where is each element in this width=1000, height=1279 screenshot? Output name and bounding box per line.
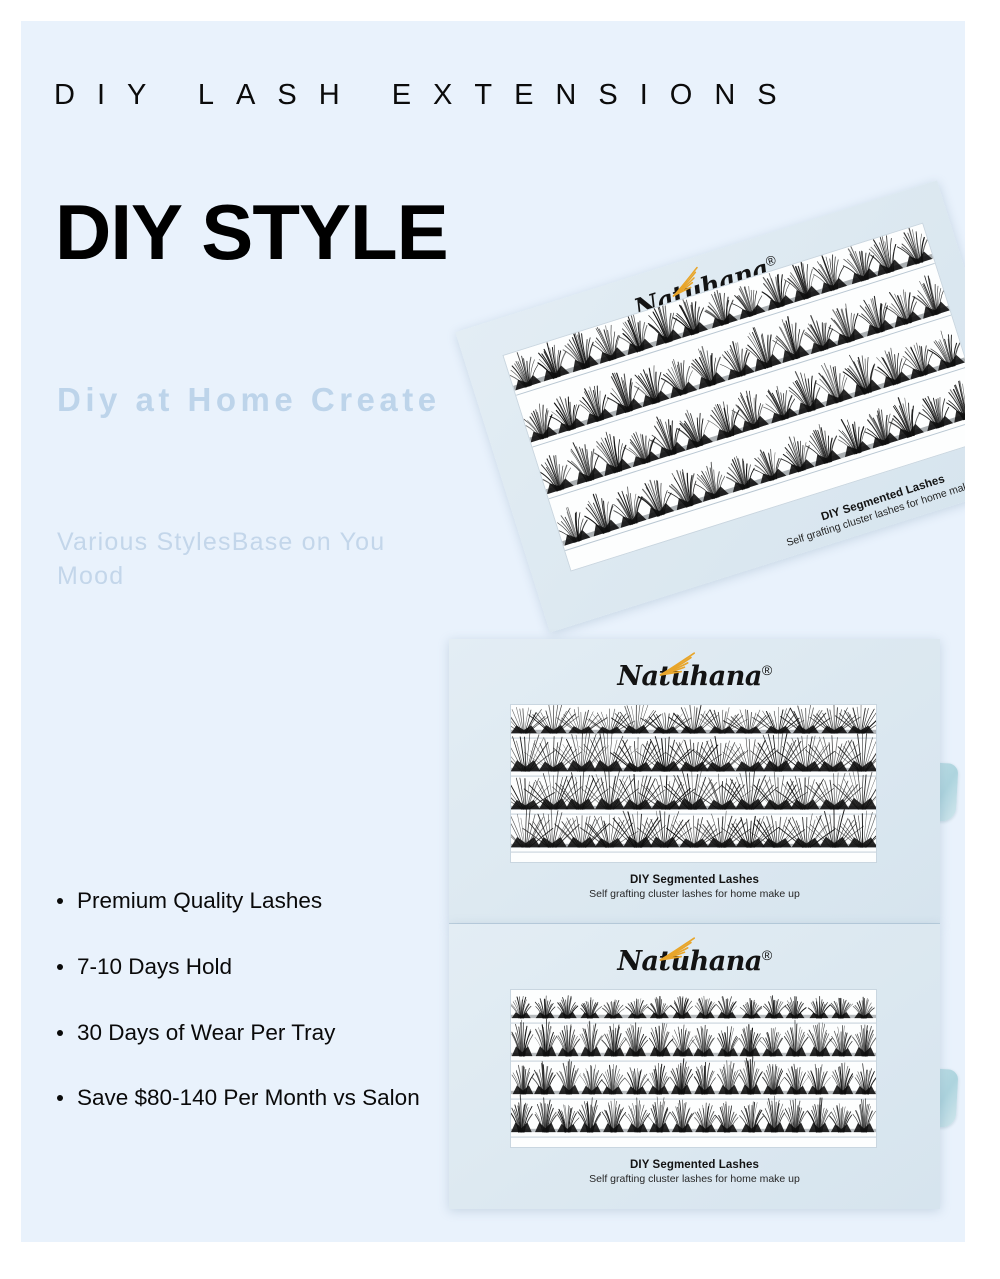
lash-rows-graphic (511, 990, 876, 1147)
registered-mark: ® (762, 947, 772, 963)
eyebrow-text: DIY LASH EXTENSIONS (54, 79, 799, 112)
registered-mark: ® (764, 252, 778, 269)
lash-tray-window (510, 704, 877, 863)
caption-subtitle: Self grafting cluster lashes for home ma… (449, 888, 940, 900)
product-tray-hero: Natuhana® (455, 180, 965, 632)
tray-caption: DIY Segmented Lashes Self grafting clust… (449, 874, 940, 900)
tray-caption: DIY Segmented Lashes Self grafting clust… (449, 1159, 940, 1185)
brand-name: Natuhana® (617, 946, 771, 977)
feature-list: Premium Quality Lashes 7-10 Days Hold 30… (51, 887, 421, 1150)
list-item: Premium Quality Lashes (51, 887, 421, 916)
list-item: Save $80-140 Per Month vs Salon (51, 1084, 421, 1113)
brand-logo: Natuhana® (449, 661, 940, 692)
brand-name: Natuhana® (617, 661, 771, 692)
lash-rows-graphic (511, 705, 876, 862)
caption-subtitle: Self grafting cluster lashes for home ma… (449, 1173, 940, 1185)
product-tray-bottom: Natuhana® (449, 924, 940, 1209)
registered-mark: ® (762, 662, 772, 678)
caption-title: DIY Segmented Lashes (449, 874, 940, 886)
caption-title: DIY Segmented Lashes (449, 1159, 940, 1171)
product-tray-middle: Natuhana® (449, 639, 940, 924)
subhead-secondary: Various StylesBase on You Mood (57, 526, 427, 594)
lash-tray-window (510, 989, 877, 1148)
subhead-primary: Diy at Home Create (57, 379, 457, 421)
list-item: 30 Days of Wear Per Tray (51, 1019, 421, 1048)
list-item: 7-10 Days Hold (51, 953, 421, 982)
brand-logo: Natuhana® (449, 946, 940, 977)
page-title: DIY STYLE (55, 193, 448, 271)
poster-canvas: DIY LASH EXTENSIONS DIY STYLE Diy at Hom… (21, 21, 965, 1242)
